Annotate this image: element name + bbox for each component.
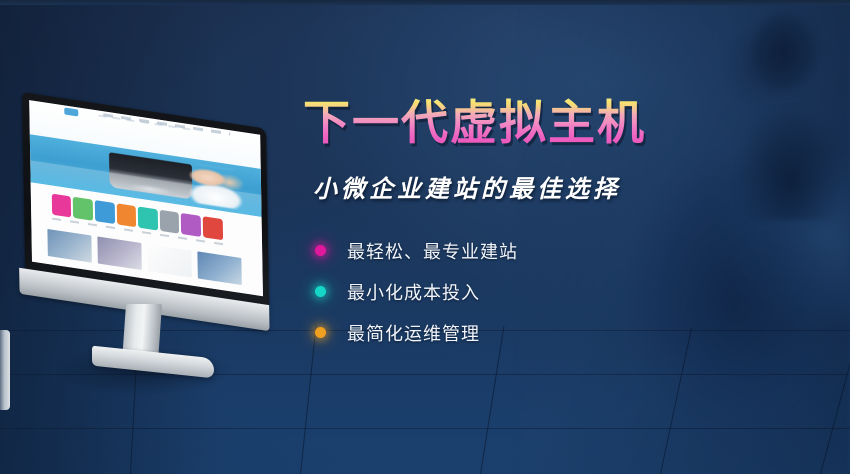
website-app-icon	[181, 213, 201, 237]
website-app-icon	[203, 216, 223, 240]
banner-subtitle: 小微企业建站的最佳选择	[313, 169, 773, 204]
website-logo	[64, 107, 78, 116]
bullet-dot-shape	[315, 245, 326, 256]
monitor-screen	[29, 100, 263, 296]
bullet-dot-teal	[307, 279, 333, 305]
bullet-dot-orange	[307, 320, 333, 346]
feature-list: 最轻松、最专业建站 最小化成本投入 最简化运维管理	[307, 238, 773, 346]
bullet-dot-magenta	[307, 238, 333, 264]
website-subnav-bar	[99, 115, 196, 132]
feature-list-item: 最小化成本投入	[307, 279, 773, 305]
feature-label: 最简化运维管理	[347, 320, 480, 346]
feature-list-item: 最轻松、最专业建站	[307, 238, 773, 264]
top-edge-strip	[0, 0, 850, 5]
imac-monitor	[8, 86, 280, 386]
banner-title: 下一代虚拟主机	[303, 96, 773, 151]
website-app-icon	[138, 207, 158, 231]
website-app-icon	[73, 197, 93, 221]
background-object-sliver	[0, 330, 10, 410]
website-app-icon	[95, 200, 115, 224]
bullet-dot-shape	[315, 327, 326, 338]
feature-label: 最小化成本投入	[347, 279, 480, 305]
bullet-dot-shape	[315, 286, 326, 297]
banner-text-block: 下一代虚拟主机 小微企业建站的最佳选择 最轻松、最专业建站 最小化成本投入 最简…	[303, 96, 773, 361]
website-app-icon	[116, 203, 136, 227]
website-app-icon	[160, 210, 180, 234]
feature-label: 最轻松、最专业建站	[347, 238, 518, 264]
website-app-icon	[52, 194, 72, 218]
feature-list-item: 最简化运维管理	[307, 320, 773, 346]
promo-banner: 下一代虚拟主机 小微企业建站的最佳选择 最轻松、最专业建站 最小化成本投入 最简…	[0, 0, 850, 474]
